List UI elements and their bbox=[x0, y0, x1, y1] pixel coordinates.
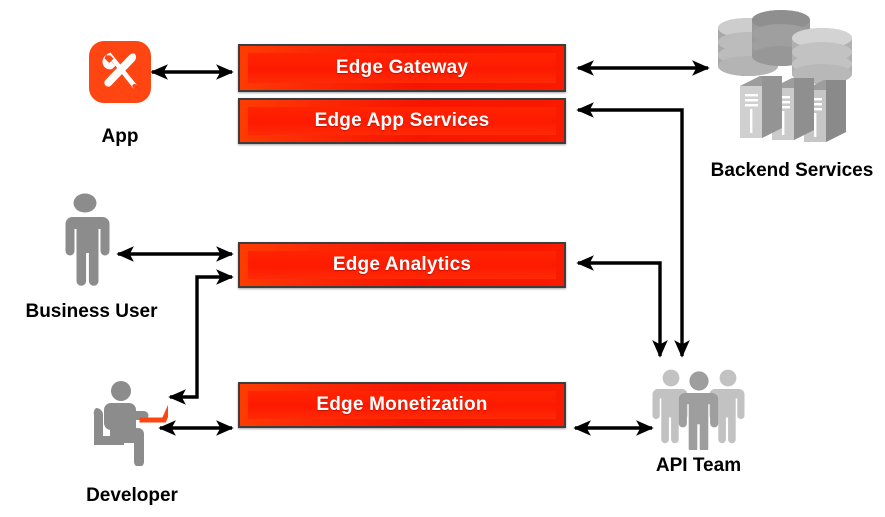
connector-developer-to-analytics bbox=[170, 277, 232, 397]
service-box-edge-analytics[interactable]: Edge Analytics bbox=[238, 242, 566, 288]
diagram-canvas: Edge Gateway Edge App Services Edge Anal… bbox=[0, 0, 885, 517]
database-servers-icon bbox=[712, 8, 862, 156]
service-label-edge-app-services: Edge App Services bbox=[315, 110, 490, 132]
app-tools-icon bbox=[89, 41, 151, 103]
developer-icon-wrap[interactable] bbox=[88, 378, 168, 471]
app-icon-wrap[interactable] bbox=[89, 41, 151, 103]
people-group-icon bbox=[652, 366, 748, 450]
person-seated-desk-icon bbox=[88, 378, 168, 466]
service-box-edge-monetization[interactable]: Edge Monetization bbox=[238, 382, 566, 428]
service-label-edge-monetization: Edge Monetization bbox=[316, 394, 487, 416]
actor-label-app: App bbox=[79, 126, 161, 148]
connector-appservices-to-apiteam bbox=[578, 110, 682, 356]
actor-label-developer: Developer bbox=[72, 485, 192, 507]
service-label-edge-analytics: Edge Analytics bbox=[333, 254, 471, 276]
actor-label-backend-services: Backend Services bbox=[699, 160, 885, 182]
business-user-icon-wrap[interactable] bbox=[52, 192, 118, 295]
actor-label-business-user: Business User bbox=[14, 301, 169, 323]
backend-services-icon-wrap[interactable] bbox=[712, 8, 862, 161]
service-box-edge-app-services[interactable]: Edge App Services bbox=[238, 98, 566, 144]
api-team-icon-wrap[interactable] bbox=[652, 366, 748, 455]
service-label-edge-gateway: Edge Gateway bbox=[336, 57, 468, 79]
connector-analytics-to-apiteam bbox=[578, 263, 660, 356]
actor-label-api-team: API Team bbox=[640, 455, 757, 477]
person-standing-icon bbox=[52, 192, 118, 290]
service-box-edge-gateway[interactable]: Edge Gateway bbox=[238, 44, 566, 92]
